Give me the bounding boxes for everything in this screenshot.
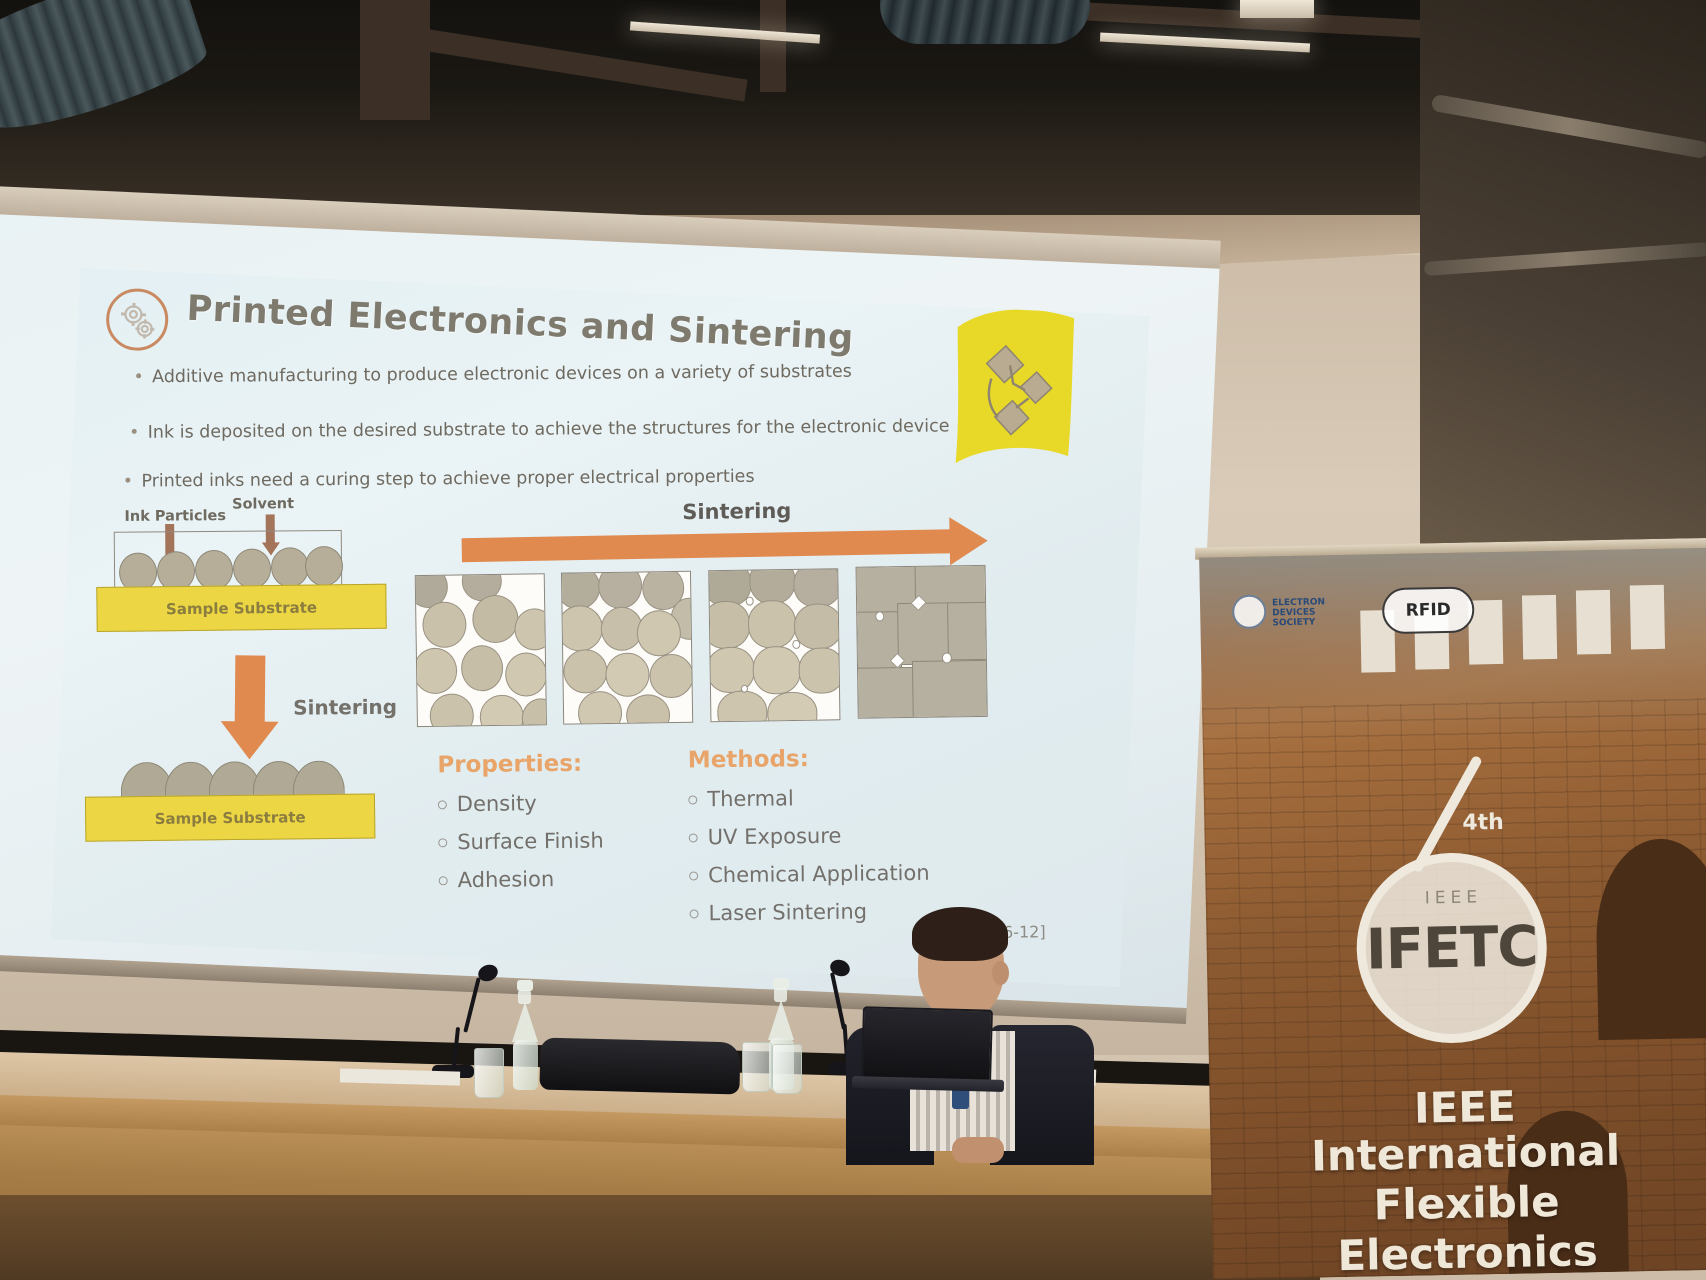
methods-item-label: Thermal [707, 786, 794, 811]
laptop-screen [861, 1006, 993, 1083]
sample-substrate-label: Sample Substrate [166, 598, 317, 618]
electron-devices-society-label: ELECTRON DEVICES SOCIETY [1272, 597, 1355, 629]
rfid-logo: RFID [1382, 586, 1475, 634]
conference-banner: ELECTRON DEVICES SOCIETY RFID 4th IEEE I… [1185, 538, 1706, 1280]
circle-bullet-icon [439, 876, 448, 885]
slide-bullet: Printed inks need a curing step to achie… [125, 467, 754, 492]
circle-bullet-icon [438, 838, 447, 847]
circle-bullet-icon [689, 833, 698, 842]
drinking-glass [474, 1048, 504, 1098]
slide-bullet: Additive manufacturing to produce electr… [136, 362, 852, 388]
slide-bullet-text: Additive manufacturing to produce electr… [152, 362, 852, 387]
properties-item: Adhesion [439, 866, 605, 892]
methods-item: Chemical Application [689, 861, 930, 888]
properties-item-label: Adhesion [458, 867, 555, 892]
circle-bullet-icon [689, 871, 698, 880]
sintering-stage-panel-2 [561, 571, 693, 725]
slide-bullet-text: Ink is deposited on the desired substrat… [148, 416, 950, 442]
gears-icon [105, 287, 170, 352]
ceiling-light [1240, 0, 1314, 18]
label-sintering-down: Sintering [293, 695, 397, 720]
properties-item-label: Density [457, 791, 537, 816]
methods-item-label: UV Exposure [708, 824, 842, 850]
bullet-dot-icon [132, 428, 137, 433]
methods-item: Thermal [688, 785, 929, 812]
label-sintering-across: Sintering [682, 499, 791, 524]
flexible-electronics-foil-logo [917, 298, 1110, 481]
hand [952, 1137, 1004, 1163]
right-ceiling-structure [1420, 0, 1706, 560]
methods-item-label: Chemical Application [708, 861, 930, 888]
bullet-dot-icon [125, 477, 130, 482]
methods-item: UV Exposure [689, 823, 930, 850]
slide-bullet-text: Printed inks need a curing step to achie… [141, 467, 754, 492]
properties-item: Surface Finish [438, 828, 604, 854]
hair [912, 907, 1008, 961]
banner-edition-number: 4 [1462, 810, 1478, 835]
air-duct [880, 0, 1090, 44]
banner-line: Flexible [1211, 1174, 1706, 1233]
label-ink-particles: Ink Particles [124, 508, 226, 525]
sample-substrate-before: Sample Substrate [96, 584, 386, 632]
laptop-bag [539, 1038, 740, 1095]
circle-bullet-icon [688, 795, 697, 804]
sintering-stage-panel-1 [415, 573, 547, 727]
banner-line: International [1210, 1124, 1706, 1183]
slide-title: Printed Electronics and Sintering [186, 289, 855, 359]
ear [992, 961, 1009, 985]
banner-edition-suffix: th [1477, 810, 1504, 835]
presentation-slide: Printed Electronics and Sintering Additi… [51, 268, 1150, 987]
merlon [1630, 585, 1665, 650]
bullet-dot-icon [136, 373, 141, 378]
properties-heading: Properties: [437, 750, 603, 778]
banner-artwork: ELECTRON DEVICES SOCIETY RFID 4th IEEE I… [1199, 548, 1706, 1280]
drinking-glass [772, 1044, 802, 1094]
ifetc-logo-text: IFETC [1365, 914, 1538, 982]
screen-surface: Printed Electronics and Sintering Additi… [0, 214, 1220, 1008]
ceiling-beam [760, 0, 786, 92]
banner-edition: 4th [1462, 810, 1504, 836]
ifetc-ieee-label: IEEE [1425, 887, 1483, 908]
electron-devices-society-logo [1232, 594, 1267, 629]
methods-list: Methods: Thermal UV Exposure Chemical Ap… [688, 745, 930, 926]
properties-list: Properties: Density Surface Finish Adhes… [437, 750, 604, 892]
circle-bullet-icon [438, 800, 447, 809]
label-solvent: Solvent [232, 496, 294, 512]
slide-bullet: Ink is deposited on the desired substrat… [132, 416, 950, 442]
merlon [1576, 590, 1611, 655]
methods-heading: Methods: [688, 745, 929, 774]
drinking-glass [742, 1042, 772, 1092]
properties-item-label: Surface Finish [457, 828, 604, 854]
stage-floor [0, 1195, 1320, 1280]
ceiling-beam [360, 0, 430, 120]
sample-substrate-after: Sample Substrate [85, 793, 375, 841]
sintering-stage-panel-4 [856, 565, 988, 719]
sample-substrate-label: Sample Substrate [155, 808, 306, 828]
merlon [1522, 595, 1557, 660]
circle-bullet-icon [690, 909, 699, 918]
banner-line: Electronics [1212, 1224, 1706, 1280]
sintering-stage-panel-3 [708, 568, 840, 722]
screenshot-stage: Printed Electronics and Sintering Additi… [0, 0, 1706, 1280]
projection-screen: Printed Electronics and Sintering Additi… [0, 186, 1221, 1030]
properties-item: Density [438, 790, 604, 816]
